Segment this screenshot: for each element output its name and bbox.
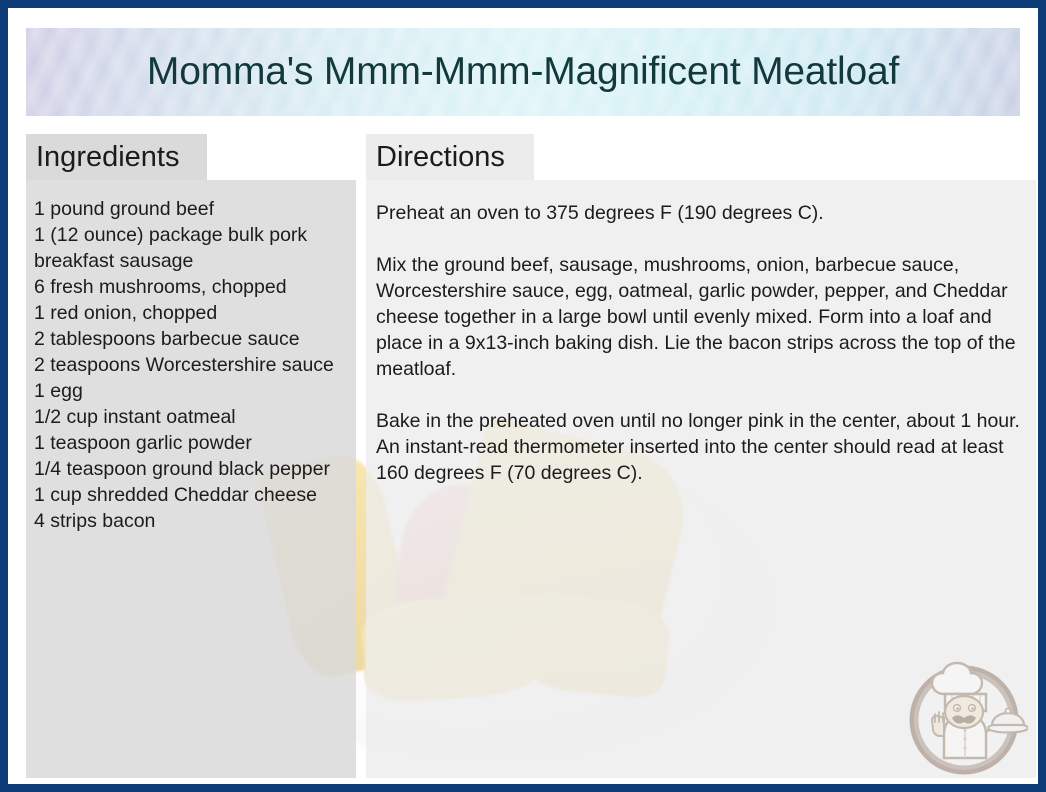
list-item: 1/4 teaspoon ground black pepper bbox=[34, 456, 344, 482]
ingredients-heading-label: Ingredients bbox=[36, 141, 180, 174]
list-item: 2 teaspoons Worcestershire sauce bbox=[34, 352, 344, 378]
directions-heading-label: Directions bbox=[376, 141, 505, 174]
ingredients-list: 1 pound ground beef 1 (12 ounce) package… bbox=[34, 196, 344, 534]
recipe-card: Momma's Mmm-Mmm-Magnificent Meatloaf Ing… bbox=[8, 8, 1038, 784]
list-item: 1 (12 ounce) package bulk pork breakfast… bbox=[34, 222, 344, 274]
list-item: 1 egg bbox=[34, 378, 344, 404]
recipe-title: Momma's Mmm-Mmm-Magnificent Meatloaf bbox=[147, 50, 899, 94]
list-item: 1 pound ground beef bbox=[34, 196, 344, 222]
list-item: 4 strips bacon bbox=[34, 508, 344, 534]
directions-panel: Preheat an oven to 375 degrees F (190 de… bbox=[366, 180, 1036, 778]
list-item: 2 tablespoons barbecue sauce bbox=[34, 326, 344, 352]
card-frame: Momma's Mmm-Mmm-Magnificent Meatloaf Ing… bbox=[0, 0, 1046, 792]
ingredients-heading-tab: Ingredients bbox=[26, 134, 207, 180]
list-item: 1 red onion, chopped bbox=[34, 300, 344, 326]
direction-step: Preheat an oven to 375 degrees F (190 de… bbox=[376, 200, 1022, 226]
direction-step: Mix the ground beef, sausage, mushrooms,… bbox=[376, 252, 1022, 382]
direction-step: Bake in the preheated oven until no long… bbox=[376, 408, 1022, 486]
list-item: 1/2 cup instant oatmeal bbox=[34, 404, 344, 430]
list-item: 1 teaspoon garlic powder bbox=[34, 430, 344, 456]
list-item: 1 cup shredded Cheddar cheese bbox=[34, 482, 344, 508]
ingredients-panel: 1 pound ground beef 1 (12 ounce) package… bbox=[26, 180, 356, 778]
directions-heading-tab: Directions bbox=[366, 134, 534, 180]
title-banner: Momma's Mmm-Mmm-Magnificent Meatloaf bbox=[26, 28, 1020, 116]
list-item: 6 fresh mushrooms, chopped bbox=[34, 274, 344, 300]
